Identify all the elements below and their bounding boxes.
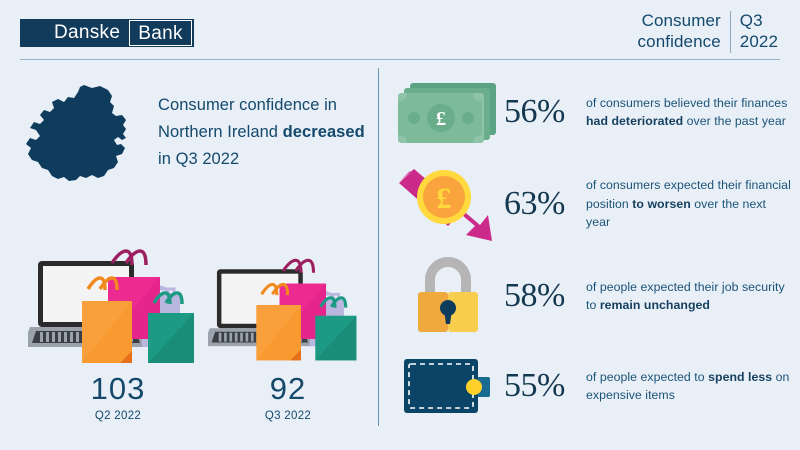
stat-text-part-1: of people expected to — [586, 370, 708, 384]
laptop-shopping-bags-icon — [208, 253, 360, 365]
header-quarter-text: Q3 2022 — [740, 10, 778, 52]
stat-text-part-1: of consumers believed their finances — [586, 96, 787, 110]
svg-text:£: £ — [436, 108, 446, 130]
wallet-icon — [392, 353, 504, 419]
lead-text-bold: decreased — [283, 123, 365, 141]
stat-row: 55% of people expected to spend less on … — [392, 346, 792, 426]
padlock-icon — [392, 256, 504, 336]
infographic-page: Danske Bank Consumer confidence Q3 2022 … — [0, 0, 800, 450]
figure-value: 92 — [228, 372, 348, 406]
page-header: Danske Bank Consumer confidence Q3 2022 — [0, 0, 800, 62]
figure-label: Q2 2022 — [58, 408, 178, 424]
danske-bank-logo: Danske Bank — [20, 19, 194, 47]
figure-block-q2: 103 Q2 2022 — [58, 372, 178, 424]
statistics-list: £ 56% of consumers believed their financ… — [392, 66, 792, 430]
logo-word-danske: Danske — [20, 19, 129, 47]
stat-text-bold: to worsen — [632, 197, 691, 211]
svg-text:£: £ — [437, 182, 452, 215]
stat-percent: 63% — [504, 186, 586, 222]
stat-percent: 58% — [504, 278, 586, 314]
column-divider — [378, 68, 379, 426]
lead-text-part-2: in Q3 2022 — [158, 150, 239, 168]
banknotes-icon: £ — [392, 79, 504, 145]
laptop-shopping-bags-icon — [28, 243, 198, 368]
header-title-line-1: Consumer — [638, 10, 721, 31]
coin-down-arrow-icon: £ — [392, 165, 504, 243]
stat-text-bold: had deteriorated — [586, 114, 683, 128]
stat-percent: 56% — [504, 94, 586, 130]
stat-row: 58% of people expected their job securit… — [392, 254, 792, 338]
logo-word-bank: Bank — [129, 20, 192, 46]
figure-block-q3: 92 Q3 2022 — [228, 372, 348, 424]
northern-ireland-map-icon — [22, 82, 142, 187]
stat-description: of consumers believed their finances had… — [586, 94, 792, 131]
header-title-line-2: confidence — [638, 31, 721, 52]
stat-row: £ 56% of consumers believed their financ… — [392, 70, 792, 154]
stat-text-part-2: over the past year — [683, 114, 786, 128]
header-quarter-line-2: 2022 — [740, 31, 778, 52]
stat-description: of consumers expected their financial po… — [586, 176, 792, 232]
stat-text-bold: remain unchanged — [600, 298, 710, 312]
figure-value: 103 — [58, 372, 178, 406]
header-title-text: Consumer confidence — [638, 10, 721, 52]
header-horizontal-rule — [20, 59, 780, 60]
stat-text-bold: spend less — [708, 370, 772, 384]
header-quarter-line-1: Q3 — [740, 10, 778, 31]
stat-percent: 55% — [504, 368, 586, 404]
stat-description: of people expected their job security to… — [586, 278, 792, 315]
header-title-divider — [730, 11, 731, 53]
stat-row: £ 63% of consumers expected their financ… — [392, 162, 792, 246]
lead-statement: Consumer confidence in Northern Ireland … — [158, 92, 373, 173]
stat-description: of people expected to spend less on expe… — [586, 368, 792, 405]
header-title-group: Consumer confidence Q3 2022 — [638, 10, 778, 53]
figure-label: Q3 2022 — [228, 408, 348, 424]
